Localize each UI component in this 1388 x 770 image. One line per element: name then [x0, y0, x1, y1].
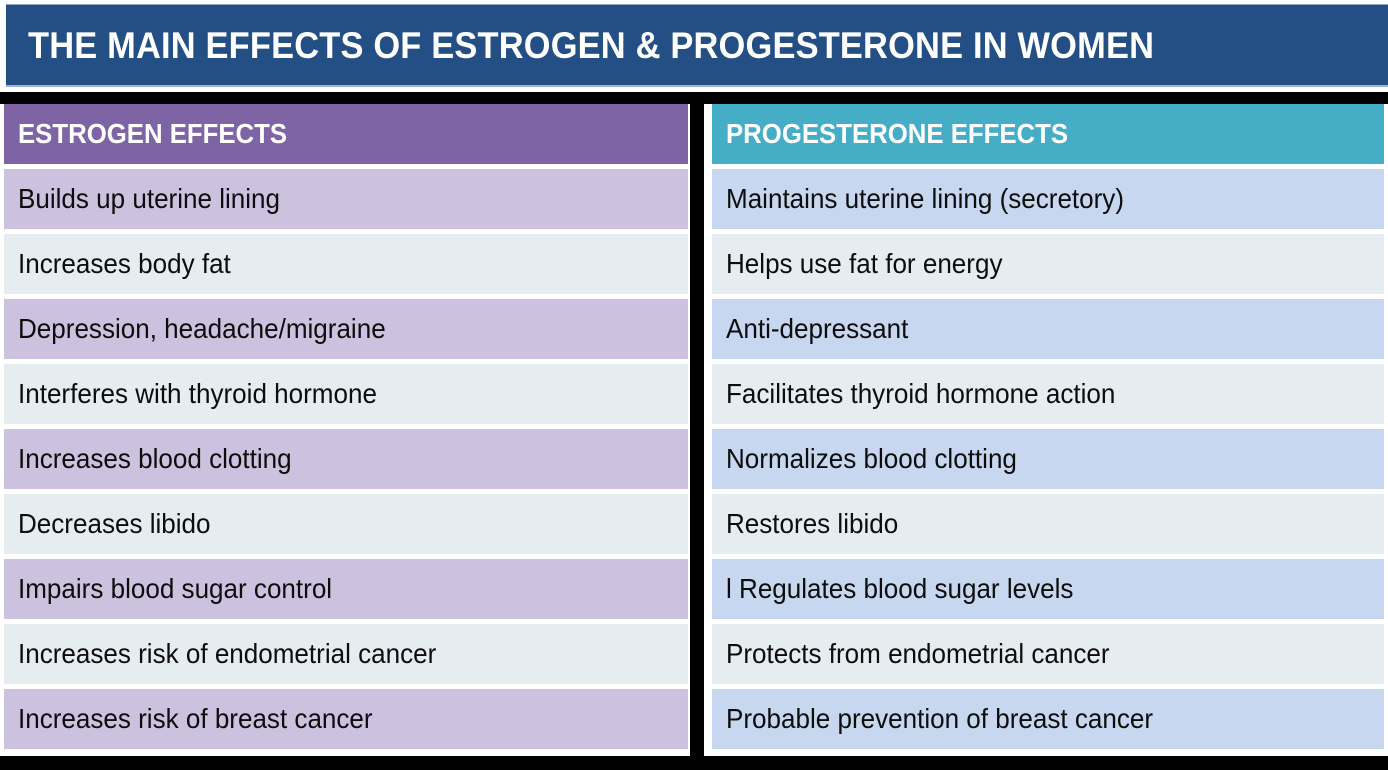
page-title: THE MAIN EFFECTS OF ESTROGEN & PROGESTER… [28, 27, 1154, 64]
estrogen-effect-6: Decreases libido [18, 510, 211, 538]
estrogen-effect-7: Impairs blood sugar control [18, 575, 332, 603]
table-row: Normalizes blood clotting [712, 429, 1384, 489]
table-row: Impairs blood sugar control [4, 559, 688, 619]
progesterone-effect-7: l Regulates blood sugar levels [726, 575, 1073, 603]
progesterone-effect-6: Restores libido [726, 510, 898, 538]
table-row: Restores libido [712, 494, 1384, 554]
title-bar: THE MAIN EFFECTS OF ESTROGEN & PROGESTER… [6, 4, 1388, 87]
table-row: Increases risk of endometrial cancer [4, 624, 688, 684]
estrogen-effect-1: Builds up uterine lining [18, 185, 280, 213]
estrogen-column: ESTROGEN EFFECTS Builds up uterine linin… [0, 104, 690, 756]
table-row: Increases blood clotting [4, 429, 688, 489]
table-row: Facilitates thyroid hormone action [712, 364, 1384, 424]
table-row: Decreases libido [4, 494, 688, 554]
title-banner: THE MAIN EFFECTS OF ESTROGEN & PROGESTER… [0, 0, 1388, 92]
table-row: Anti-depressant [712, 299, 1384, 359]
table-row: l Regulates blood sugar levels [712, 559, 1384, 619]
estrogen-effect-4: Interferes with thyroid hormone [18, 380, 377, 408]
table-row: Probable prevention of breast cancer [712, 689, 1384, 749]
estrogen-effect-2: Increases body fat [18, 250, 231, 278]
progesterone-column-header-label: PROGESTERONE EFFECTS [726, 120, 1068, 148]
table-row: Helps use fat for energy [712, 234, 1384, 294]
comparison-table: ESTROGEN EFFECTS Builds up uterine linin… [0, 104, 1388, 756]
table-row: Interferes with thyroid hormone [4, 364, 688, 424]
progesterone-column: PROGESTERONE EFFECTS Maintains uterine l… [704, 104, 1388, 756]
progesterone-effect-3: Anti-depressant [726, 315, 908, 343]
title-divider-band [0, 92, 1388, 104]
slide-root: THE MAIN EFFECTS OF ESTROGEN & PROGESTER… [0, 0, 1388, 770]
estrogen-effect-3: Depression, headache/migraine [18, 315, 386, 343]
progesterone-effect-4: Facilitates thyroid hormone action [726, 380, 1115, 408]
estrogen-effect-9: Increases risk of breast cancer [18, 705, 373, 733]
progesterone-effect-1: Maintains uterine lining (secretory) [726, 185, 1124, 213]
table-row: Builds up uterine lining [4, 169, 688, 229]
table-row: Depression, headache/migraine [4, 299, 688, 359]
table-row: Maintains uterine lining (secretory) [712, 169, 1384, 229]
table-row: Increases body fat [4, 234, 688, 294]
progesterone-effect-2: Helps use fat for energy [726, 250, 1002, 278]
progesterone-column-header: PROGESTERONE EFFECTS [712, 104, 1384, 164]
progesterone-effect-9: Probable prevention of breast cancer [726, 705, 1153, 733]
table-row: Protects from endometrial cancer [712, 624, 1384, 684]
estrogen-column-header-label: ESTROGEN EFFECTS [18, 120, 287, 148]
column-divider [690, 104, 704, 756]
footer-divider-band [0, 756, 1388, 770]
table-row: Increases risk of breast cancer [4, 689, 688, 749]
estrogen-effect-8: Increases risk of endometrial cancer [18, 640, 436, 668]
progesterone-effect-5: Normalizes blood clotting [726, 445, 1017, 473]
estrogen-effect-5: Increases blood clotting [18, 445, 292, 473]
estrogen-column-header: ESTROGEN EFFECTS [4, 104, 688, 164]
progesterone-effect-8: Protects from endometrial cancer [726, 640, 1110, 668]
